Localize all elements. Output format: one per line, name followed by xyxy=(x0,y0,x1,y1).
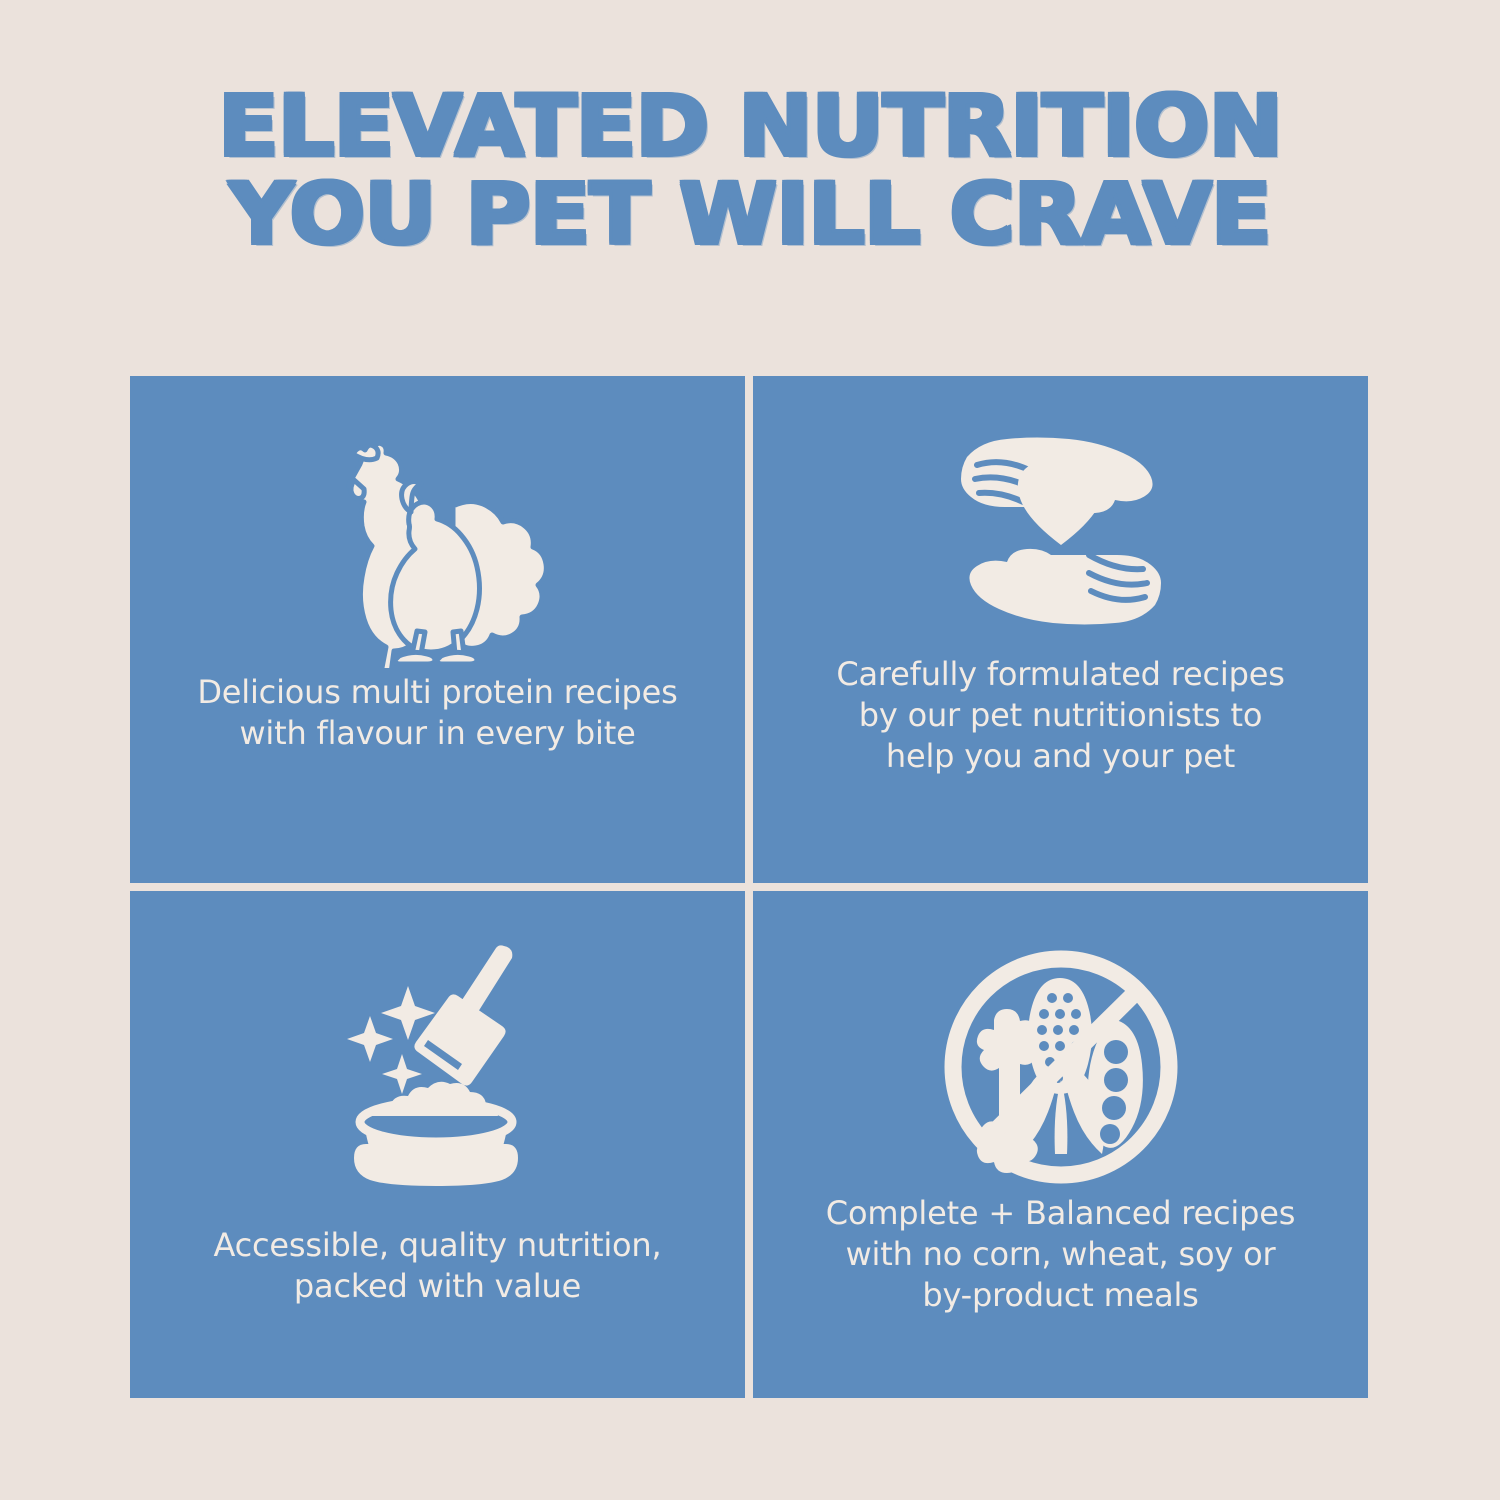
caption-line: packed with value xyxy=(156,1266,719,1307)
page-title: ELEVATED NUTRITION YOU PET WILL CRAVE xyxy=(0,82,1500,258)
feature-card-formulated: Carefully formulated recipes by our pet … xyxy=(753,376,1368,883)
scoop-bowl-sparkles-icon xyxy=(130,891,745,1197)
feature-card-value: Accessible, quality nutrition, packed wi… xyxy=(130,891,745,1398)
headline-line-1: ELEVATED NUTRITION xyxy=(0,82,1500,170)
feature-grid: Delicious multi protein recipes with fla… xyxy=(130,376,1368,1398)
caption-line: help you and your pet xyxy=(779,736,1342,777)
hands-heart-icon xyxy=(753,376,1368,642)
no-corn-wheat-soy-icon xyxy=(753,891,1368,1177)
feature-card-protein: Delicious multi protein recipes with fla… xyxy=(130,376,745,883)
infographic-page: ELEVATED NUTRITION YOU PET WILL CRAVE xyxy=(0,0,1500,1500)
caption-line: Carefully formulated recipes xyxy=(779,654,1342,695)
caption-line: Delicious multi protein recipes xyxy=(156,672,719,713)
chicken-turkey-icon xyxy=(130,376,745,668)
feature-card-no-fillers: Complete + Balanced recipes with no corn… xyxy=(753,891,1368,1398)
caption-line: Complete + Balanced recipes xyxy=(779,1193,1342,1234)
feature-card-value-text: Accessible, quality nutrition, packed wi… xyxy=(130,1225,745,1307)
caption-line: with flavour in every bite xyxy=(156,713,719,754)
caption-line: by our pet nutritionists to xyxy=(779,695,1342,736)
feature-card-formulated-text: Carefully formulated recipes by our pet … xyxy=(753,654,1368,777)
caption-line: with no corn, wheat, soy or xyxy=(779,1234,1342,1275)
headline-line-2: YOU PET WILL CRAVE xyxy=(0,170,1500,258)
caption-line: Accessible, quality nutrition, xyxy=(156,1225,719,1266)
feature-card-protein-text: Delicious multi protein recipes with fla… xyxy=(130,672,745,754)
caption-line: by-product meals xyxy=(779,1275,1342,1316)
feature-card-no-fillers-text: Complete + Balanced recipes with no corn… xyxy=(753,1193,1368,1316)
